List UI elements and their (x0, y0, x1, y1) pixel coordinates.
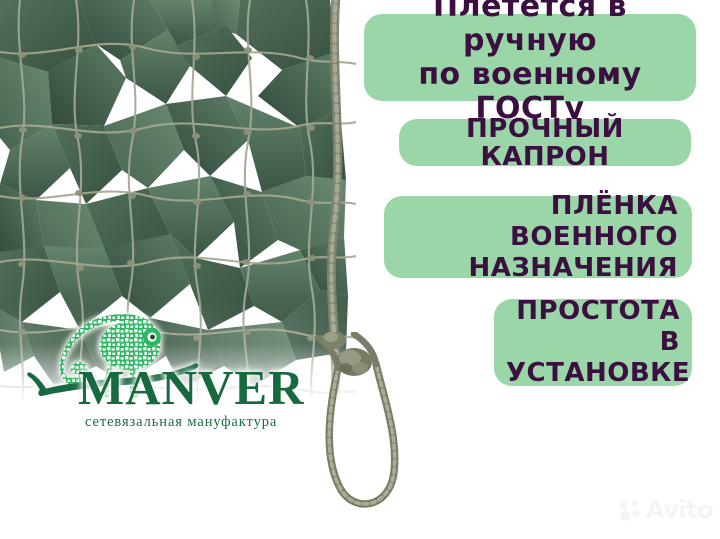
feature-badge-handmade-gost: Плетётся в ручную по военному ГОСТу (364, 14, 696, 101)
feature-badge-military-film: ПЛЁНКА ВОЕННОГО НАЗНАЧЕНИЯ (384, 196, 692, 278)
feature-badge-text: ПРОЧНЫЙ КАПРОН (413, 115, 677, 171)
advertisement-image: MANVER сетевязальная мануфактура Плетётс… (0, 0, 720, 539)
avito-watermark: Avito (617, 498, 713, 522)
feature-badge-strong-kapron: ПРОЧНЫЙ КАПРОН (399, 119, 691, 166)
avito-label: Avito (646, 498, 713, 522)
rope-knot (336, 348, 372, 376)
feature-badge-text: Плетётся в ручную по военному ГОСТу (377, 0, 683, 126)
logo-tagline: сетевязальная мануфактура (85, 414, 335, 431)
manver-logo: MANVER сетевязальная мануфактура (8, 300, 328, 440)
feature-badge-text: ПЛЁНКА ВОЕННОГО НАЗНАЧЕНИЯ (398, 191, 678, 284)
feature-badge-text: ПРОСТОТА В УСТАНОВКЕ (506, 296, 680, 389)
avito-dots-icon (617, 498, 641, 522)
logo-wordmark: MANVER (78, 362, 328, 414)
feature-badge-easy-install: ПРОСТОТА В УСТАНОВКЕ (494, 299, 692, 386)
